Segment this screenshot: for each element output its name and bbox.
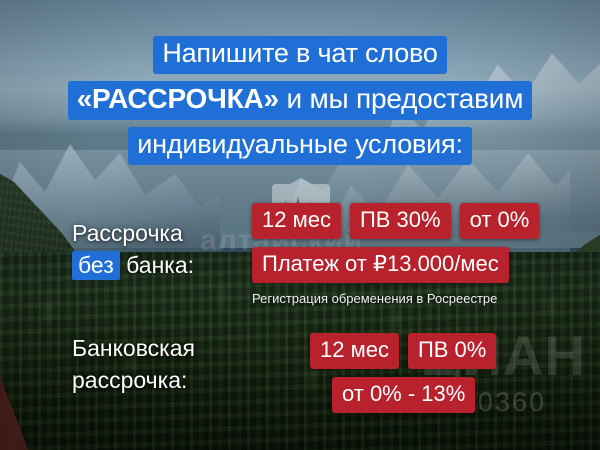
badge-downpayment: ПВ 0% bbox=[408, 333, 496, 369]
headline-line-3: индивидуальные условия: bbox=[128, 127, 472, 165]
offer-badges-bank-installment: 12 мес ПВ 0% от 0% - 13% bbox=[310, 333, 496, 421]
offer-caption-rosreestr: Регистрация обременения в Росреестре bbox=[252, 291, 539, 306]
offer-badges-installment-no-bank: 12 мес ПВ 30% от 0% Платеж от ₽13.000/ме… bbox=[252, 203, 539, 306]
headline-block: Напишите в чат слово «РАССРОЧКА» и мы пр… bbox=[0, 36, 600, 172]
badge-rate-range: от 0% - 13% bbox=[332, 377, 475, 413]
headline-line-1: Напишите в чат слово bbox=[153, 36, 446, 74]
badge-row: от 0% - 13% bbox=[310, 377, 496, 413]
offer-label-line-1: Рассрочка bbox=[72, 218, 194, 250]
promo-banner: алтайский ЦИАН ID 326240360 Напишите в ч… bbox=[0, 0, 600, 450]
headline-line-1-wrap: Напишите в чат слово bbox=[0, 36, 600, 74]
badge-term: 12 мес bbox=[310, 333, 399, 369]
offer-label-bank-installment: Банковская рассрочка: bbox=[72, 333, 195, 396]
headline-line-2: «РАССРОЧКА» и мы предоставим bbox=[68, 81, 533, 120]
badge-term: 12 мес bbox=[252, 203, 341, 239]
badge-monthly-payment: Платеж от ₽13.000/мес bbox=[252, 247, 509, 283]
badge-row: Платеж от ₽13.000/мес bbox=[252, 247, 539, 283]
headline-line-2-rest: и мы предоставим bbox=[279, 83, 523, 114]
offer-label-installment-no-bank: Рассрочка без банка: bbox=[72, 218, 194, 281]
badge-rate: от 0% bbox=[460, 203, 540, 239]
offer-label-line-2: без банка: bbox=[72, 250, 194, 282]
offer-label-line-2-rest: банка: bbox=[120, 252, 194, 278]
offer-label-line-1: Банковская bbox=[72, 333, 195, 365]
badge-row: 12 мес ПВ 0% bbox=[310, 333, 496, 369]
badge-row: 12 мес ПВ 30% от 0% bbox=[252, 203, 539, 239]
headline-keyword: «РАССРОЧКА» bbox=[77, 83, 279, 114]
badge-downpayment: ПВ 30% bbox=[350, 203, 451, 239]
headline-line-2-wrap: «РАССРОЧКА» и мы предоставим bbox=[0, 81, 600, 120]
offer-label-chip: без bbox=[72, 251, 120, 280]
offer-label-line-2: рассрочка: bbox=[72, 365, 195, 397]
headline-line-3-wrap: индивидуальные условия: bbox=[0, 127, 600, 165]
